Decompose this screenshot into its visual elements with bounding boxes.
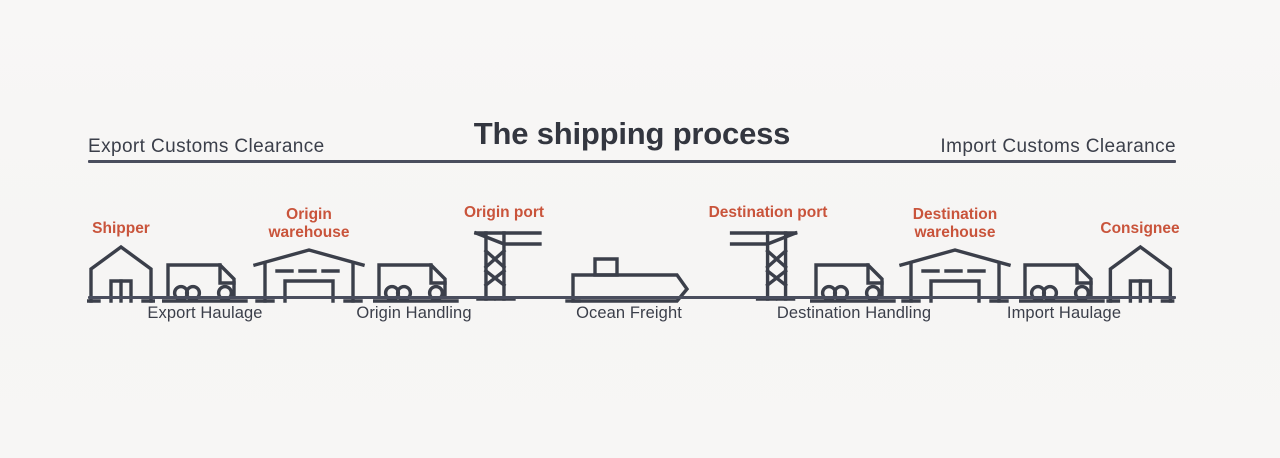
stage-label-row: Export HaulageOrigin HandlingOcean Freig… bbox=[0, 304, 1280, 336]
process-node-warehouse-8: Destination warehouse bbox=[899, 206, 1011, 305]
stage-label-ocean-freight: Ocean Freight bbox=[576, 304, 682, 323]
node-caption: Shipper bbox=[92, 220, 150, 237]
export-customs-clearance-label: Export Customs Clearance bbox=[88, 136, 325, 158]
import-customs-clearance-label: Import Customs Clearance bbox=[940, 136, 1176, 158]
ground-baseline-rule bbox=[88, 296, 1176, 299]
process-node-port-crane-4: Origin port bbox=[464, 204, 544, 305]
node-caption: Destination warehouse bbox=[913, 206, 997, 241]
node-caption: Origin port bbox=[464, 204, 544, 221]
process-node-house-10: Consignee bbox=[1100, 220, 1179, 305]
header-divider-rule bbox=[88, 160, 1176, 163]
stage-label-origin-handling: Origin Handling bbox=[356, 304, 471, 323]
process-node-house-0: Shipper bbox=[87, 220, 155, 305]
process-node-warehouse-2: Origin warehouse bbox=[253, 206, 365, 305]
node-caption: Origin warehouse bbox=[269, 206, 350, 241]
shipping-process-diagram: Export Customs Clearance The shipping pr… bbox=[0, 0, 1280, 458]
stage-label-import-haulage: Import Haulage bbox=[1007, 304, 1121, 323]
port-crane-icon bbox=[728, 227, 808, 305]
page-title: The shipping process bbox=[474, 116, 790, 152]
node-caption: Consignee bbox=[1100, 220, 1179, 237]
port-crane-icon bbox=[464, 227, 544, 305]
process-icon-stage: Shipper Origin warehouse bbox=[0, 180, 1280, 305]
header-row: Export Customs Clearance The shipping pr… bbox=[88, 108, 1176, 160]
stage-label-export-haulage: Export Haulage bbox=[147, 304, 262, 323]
node-caption: Destination port bbox=[709, 204, 828, 221]
stage-label-destination-handling: Destination Handling bbox=[777, 304, 931, 323]
